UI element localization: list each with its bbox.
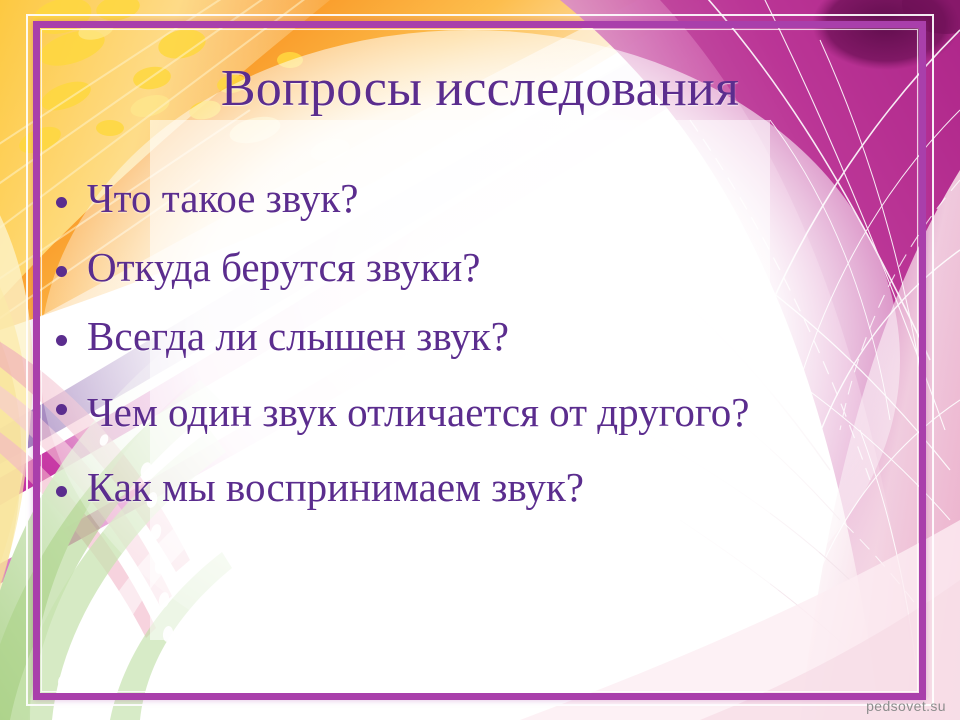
bullet-dot-icon (56, 404, 67, 415)
list-item: Как мы воспринимаем звук? (56, 467, 816, 508)
list-item-label: Как мы воспринимаем звук? (87, 467, 816, 508)
list-item: Всегда ли слышен звук? (56, 316, 816, 357)
list-item: Чем один звук отличается от другого? (56, 385, 816, 439)
bullet-dot-icon (56, 486, 67, 497)
list-item-label: Что такое звук? (87, 178, 816, 219)
list-item: Что такое звук? (56, 178, 816, 219)
bullet-dot-icon (56, 197, 67, 208)
slide-title: Вопросы исследования (0, 62, 960, 117)
bullet-dot-icon (56, 335, 67, 346)
list-item-label: Всегда ли слышен звук? (87, 316, 816, 357)
watermark-label: pedsovet.su (866, 698, 946, 714)
bullet-dot-icon (56, 266, 67, 277)
presentation-slide: Вопросы исследования Что такое звук? Отк… (0, 0, 960, 720)
list-item-label: Откуда берутся звуки? (87, 247, 816, 288)
question-list: Что такое звук? Откуда берутся звуки? Вс… (56, 178, 816, 508)
slide-content: Вопросы исследования Что такое звук? Отк… (0, 0, 960, 720)
list-item: Откуда берутся звуки? (56, 247, 816, 288)
list-item-label: Чем один звук отличается от другого? (87, 385, 816, 439)
